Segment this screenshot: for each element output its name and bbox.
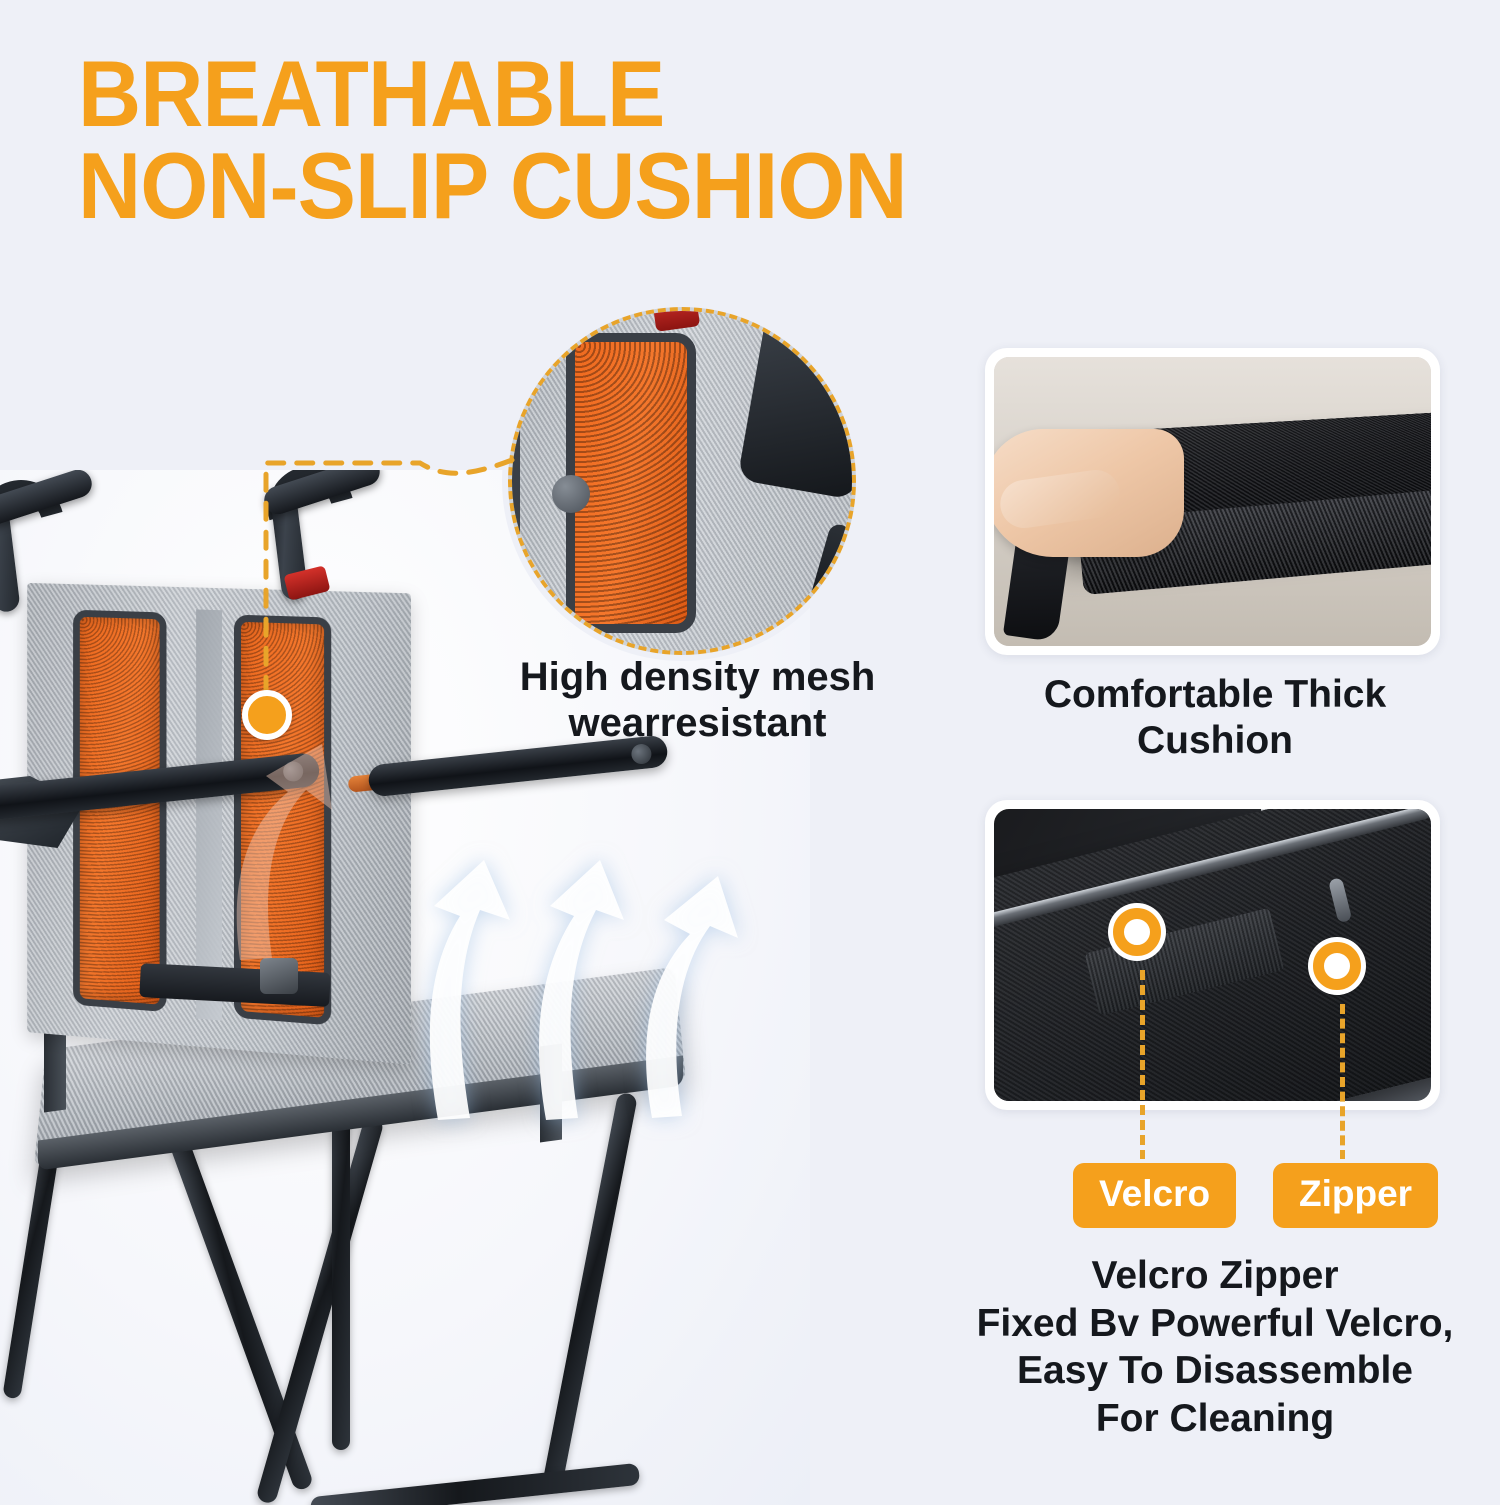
callout-line-zipper [1340, 1004, 1345, 1160]
callout-ring-zipper [1313, 942, 1361, 990]
panel-comfortable-cushion [985, 348, 1440, 655]
thumb [997, 467, 1123, 531]
callout-ring-velcro [1113, 908, 1161, 956]
callout-line-velcro [1140, 970, 1145, 1160]
magnifier-knob [552, 475, 590, 513]
callout-pin-mesh [242, 690, 292, 740]
orange-mesh-pad-left [73, 610, 166, 1012]
cushion-photo [994, 357, 1431, 646]
caption-high-density-mesh: High density mesh wearresistant [470, 655, 925, 746]
panel-velcro-zipper [985, 800, 1440, 1110]
magnifier-inset-mesh [508, 307, 856, 655]
velcro-photo [994, 809, 1431, 1101]
airflow-arrows [360, 720, 780, 1140]
zipper-pull [1328, 877, 1352, 923]
badge-velcro[interactable]: Velcro [1073, 1163, 1236, 1228]
airflow-arrow-accent [180, 710, 410, 970]
caption-velcro-zipper: Velcro Zipper Fixed Bv Powerful Velcro, … [960, 1252, 1470, 1442]
hand-holding-cushion [994, 429, 1184, 557]
badge-zipper[interactable]: Zipper [1273, 1163, 1438, 1228]
caption-comfortable-thick-cushion: Comfortable Thick Cushion [1000, 672, 1430, 764]
magnifier-content [508, 307, 856, 655]
page-title: BREATHABLE NON-SLIP CUSHION [78, 48, 1194, 232]
